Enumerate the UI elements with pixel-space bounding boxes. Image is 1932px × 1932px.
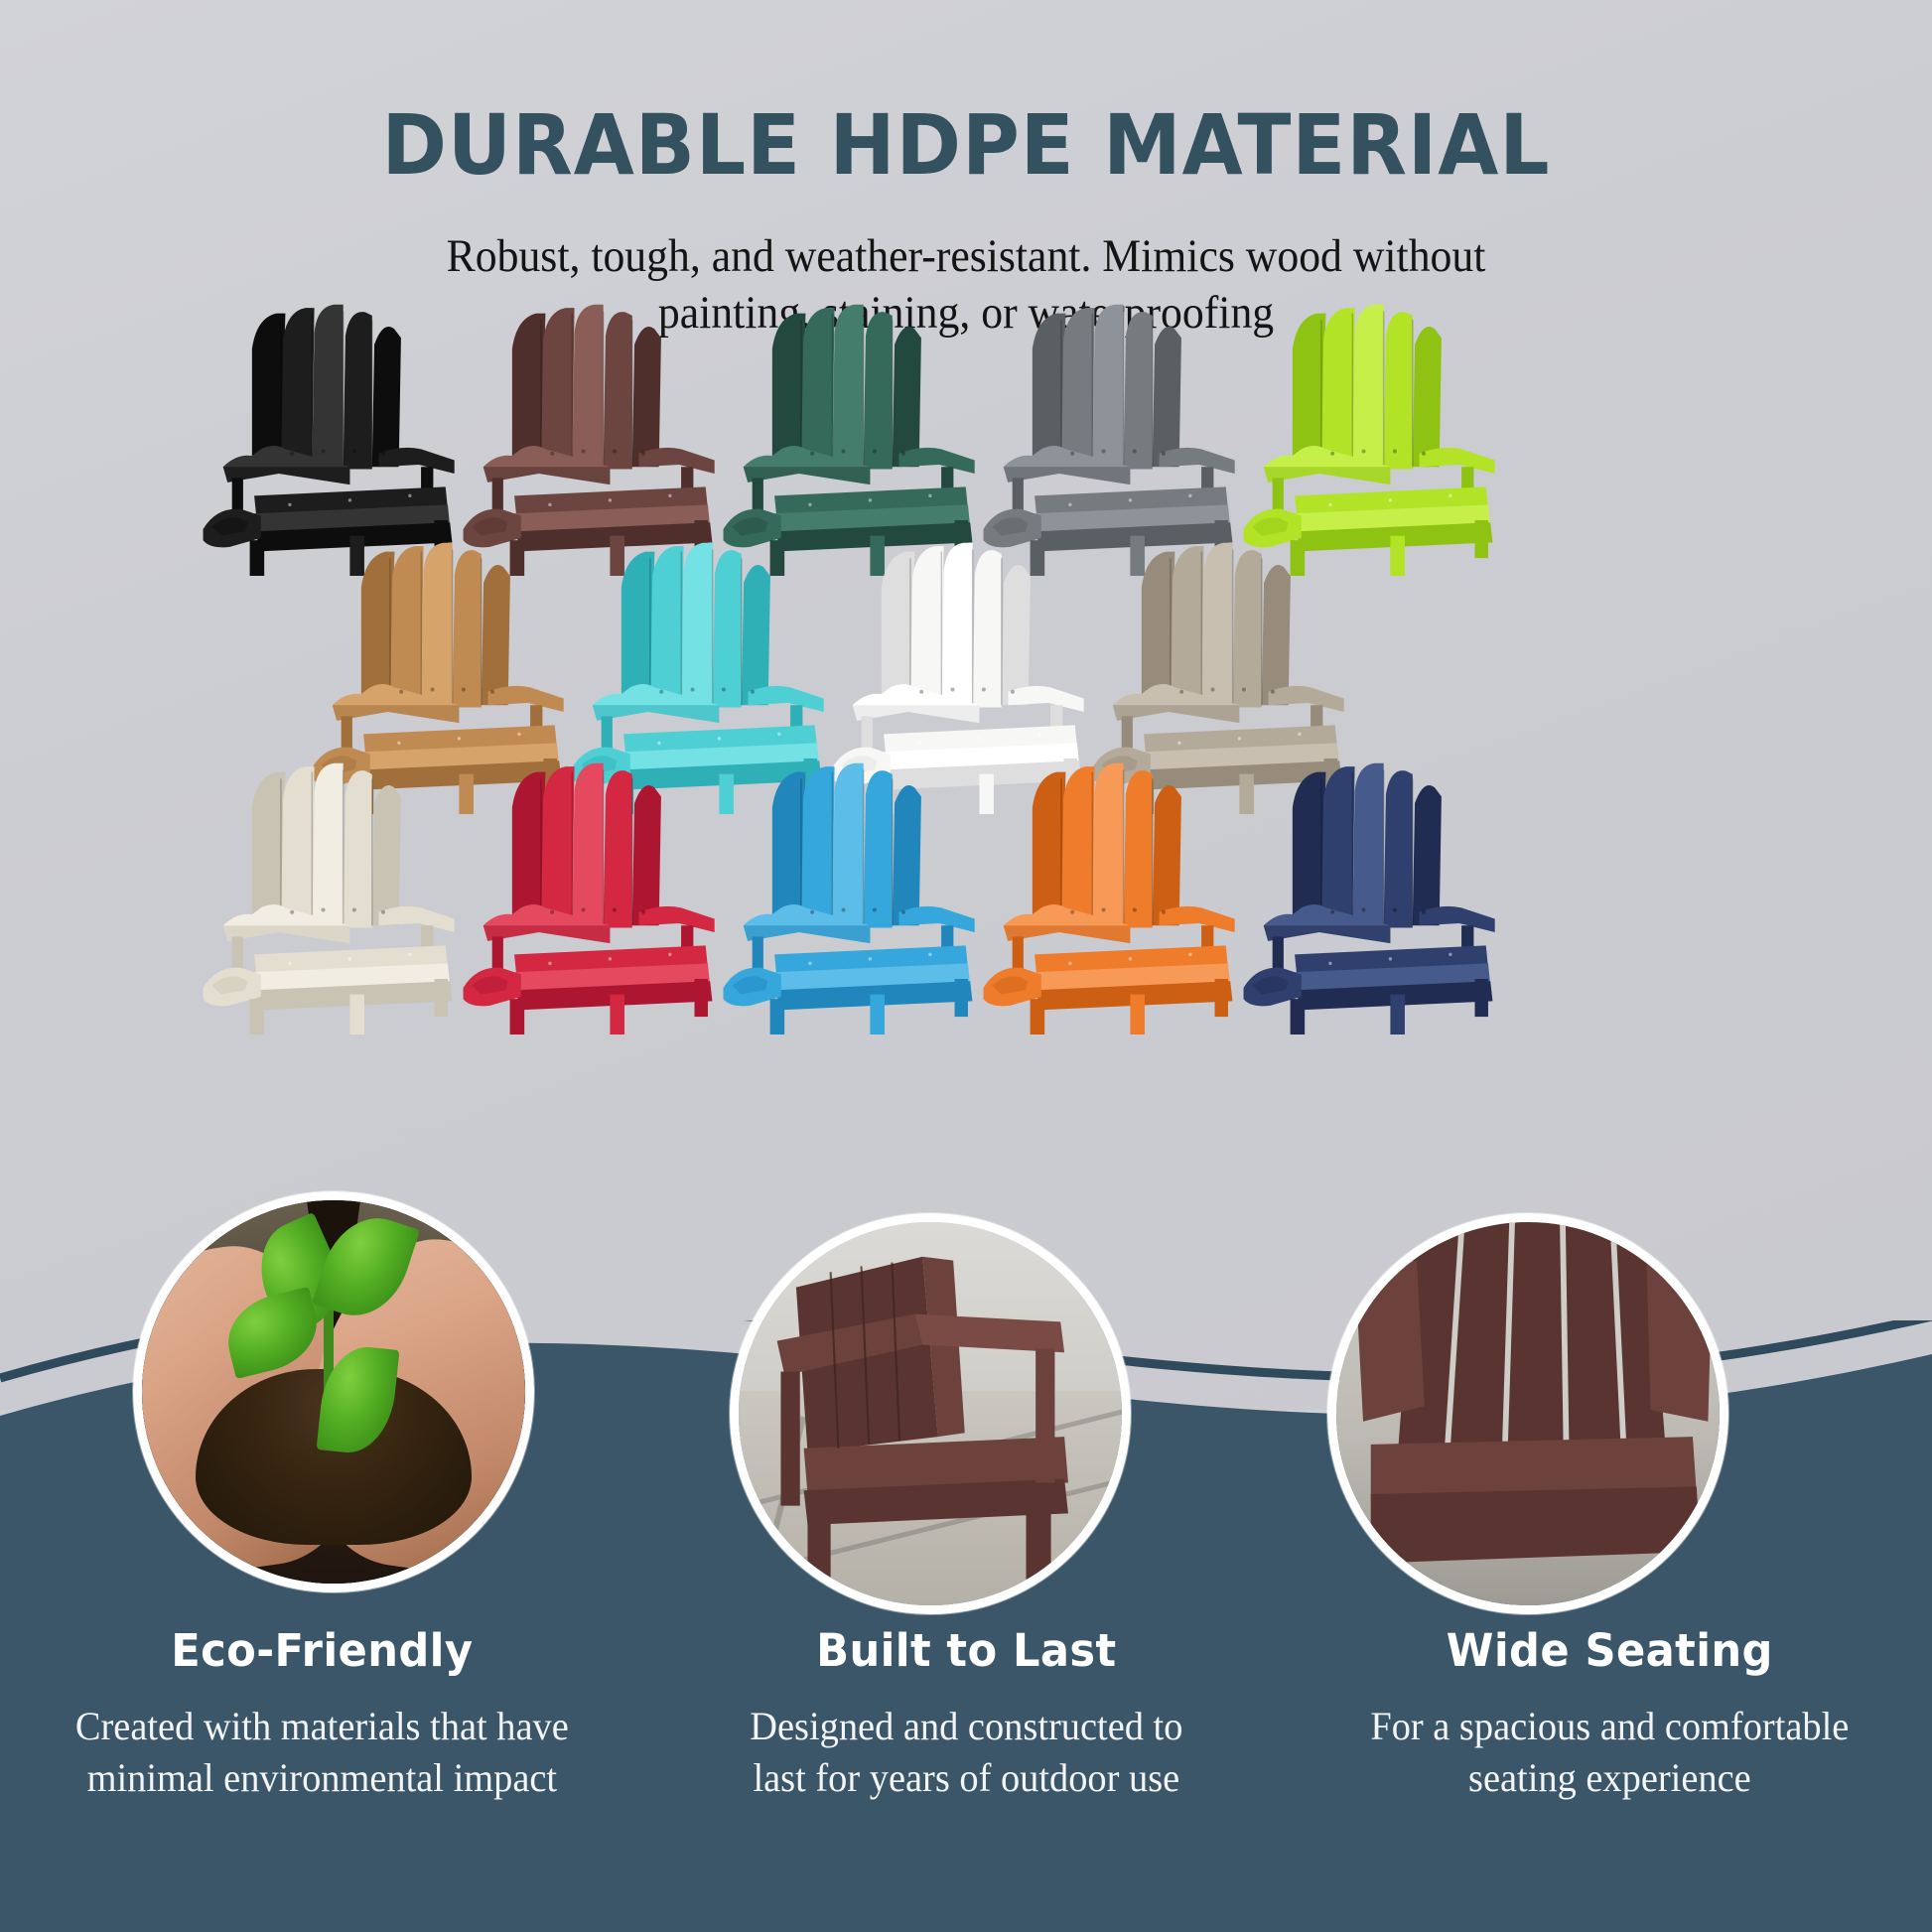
chair-swatch-brown[interactable]	[439, 298, 737, 576]
feature-title: Wide Seating	[1325, 1624, 1894, 1677]
chair-illustration	[439, 757, 737, 1035]
chair-illustration	[179, 298, 477, 576]
chair-swatch-orange[interactable]	[959, 757, 1257, 1035]
feature-description: Designed and constructed to last for yea…	[682, 1701, 1251, 1804]
chair-swatch-ivory[interactable]	[179, 757, 477, 1035]
chair-swatch-red[interactable]	[439, 757, 737, 1035]
chair-illustration	[959, 298, 1257, 576]
feature-desc-line-2: minimal environmental impact	[38, 1752, 607, 1804]
feature-desc-line-1: Created with materials that have	[38, 1701, 607, 1752]
chair-swatch-lime-green[interactable]	[1219, 298, 1517, 576]
feature-description: Created with materials that have minimal…	[38, 1701, 607, 1804]
feature-eco-friendly: Eco-Friendly Created with materials that…	[0, 1624, 644, 1804]
feature-list: Eco-Friendly Created with materials that…	[0, 1624, 1932, 1804]
feature-title: Built to Last	[682, 1624, 1251, 1677]
chair-swatch-black[interactable]	[179, 298, 477, 576]
built-to-last-photo	[730, 1213, 1131, 1614]
chair-illustration	[959, 757, 1257, 1035]
feature-desc-line-2: last for years of outdoor use	[682, 1752, 1251, 1804]
chair-swatch-gray[interactable]	[959, 298, 1257, 576]
feature-title: Eco-Friendly	[38, 1624, 607, 1677]
chair-illustration	[1219, 757, 1517, 1035]
chair-swatch-light-blue[interactable]	[699, 757, 997, 1035]
feature-description: For a spacious and comfortable seating e…	[1325, 1701, 1894, 1804]
seat-closeup-illustration	[1336, 1222, 1720, 1605]
chair-illustration	[699, 298, 997, 576]
chair-illustration	[1219, 298, 1517, 576]
feature-desc-line-1: For a spacious and comfortable	[1325, 1701, 1894, 1752]
chair-swatch-dark-green[interactable]	[699, 298, 997, 576]
feature-desc-line-2: seating experience	[1325, 1752, 1894, 1804]
eco-friendly-photo	[133, 1191, 534, 1592]
chair-illustration	[179, 757, 477, 1035]
chair-swatch-navy[interactable]	[1219, 757, 1517, 1035]
chair-illustration	[699, 757, 997, 1035]
feature-desc-line-1: Designed and constructed to	[682, 1701, 1251, 1752]
patio-chair-illustration	[739, 1222, 1122, 1605]
feature-built-to-last: Built to Last Designed and constructed t…	[644, 1624, 1289, 1804]
wide-seating-photo	[1327, 1213, 1728, 1614]
feature-wide-seating: Wide Seating For a spacious and comforta…	[1288, 1624, 1932, 1804]
chair-illustration	[439, 298, 737, 576]
